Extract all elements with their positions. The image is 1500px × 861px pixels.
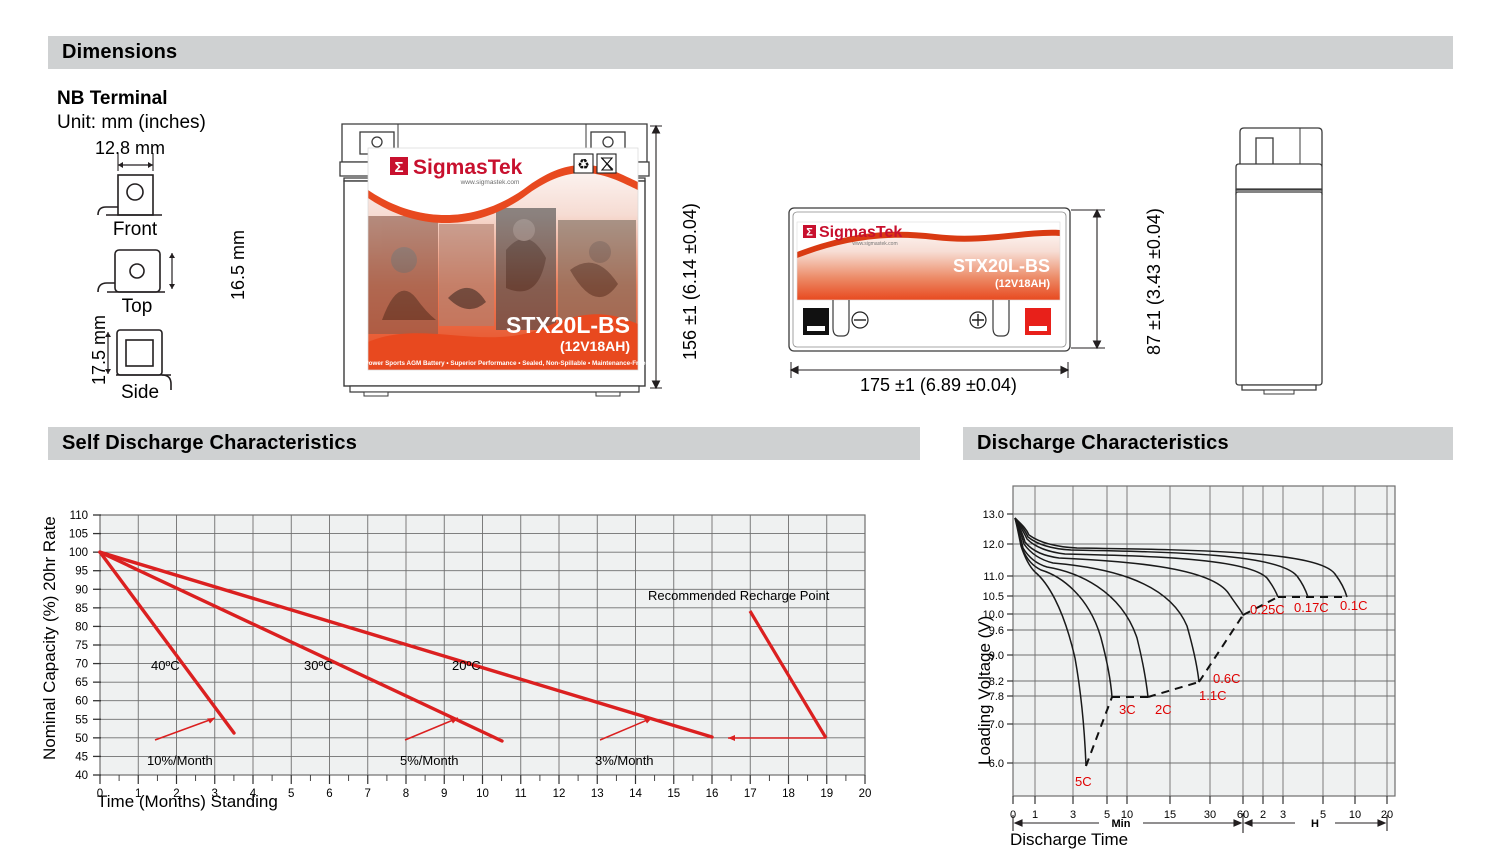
battery-model: STX20L-BS (506, 312, 630, 338)
recycle-icon: ♻ (574, 154, 593, 173)
brand-sigma-glyph: Σ (394, 159, 403, 176)
span-label-min: Min (1112, 818, 1131, 830)
label-1.1c: 1.1C (1199, 688, 1226, 703)
annotation-5pct-month: 5%/Month (400, 753, 459, 768)
battery-length-dimension: 175 ±1 (6.89 ±0.04) (860, 375, 1017, 396)
svg-text:95: 95 (75, 566, 88, 578)
battery-tagline: • Power Sports AGM Battery • Superior Pe… (360, 360, 646, 367)
label-3c: 3C (1119, 702, 1136, 717)
label-2c: 2C (1155, 702, 1172, 717)
annotation-30c: 30ºC (304, 658, 333, 673)
svg-text:10: 10 (476, 788, 489, 800)
label-0.17c: 0.17C (1294, 600, 1329, 615)
svg-text:85: 85 (75, 603, 88, 615)
svg-text:STX20L-BS: STX20L-BS (953, 256, 1050, 276)
svg-text:9: 9 (441, 788, 447, 800)
annotation-40c: 40ºC (151, 658, 180, 673)
discharge-chart: 13.012.011.0 10.510.09.6 9.08.27.8 7.06.… (995, 478, 1415, 828)
polarity-negative-icon (852, 312, 868, 328)
self-discharge-section-header: Self Discharge Characteristics (48, 427, 920, 460)
svg-text:6.0: 6.0 (989, 758, 1004, 770)
annotation-10pct-month: 10%/Month (147, 753, 213, 768)
svg-text:45: 45 (75, 751, 88, 763)
svg-text:105: 105 (69, 529, 88, 541)
svg-text:10.5: 10.5 (983, 591, 1004, 603)
svg-text:6: 6 (326, 788, 332, 800)
svg-text:7.8: 7.8 (989, 691, 1004, 703)
svg-text:15: 15 (667, 788, 680, 800)
battery-side-view: Σ SigmasTek www.sigmastek.com STX20L-BS … (785, 200, 1125, 400)
terminal-view-top-label: Top (122, 296, 153, 317)
svg-text:14: 14 (629, 788, 642, 800)
svg-text:11: 11 (515, 788, 527, 800)
svg-text:80: 80 (75, 621, 88, 633)
svg-text:18: 18 (782, 788, 795, 800)
svg-text:13: 13 (591, 788, 604, 800)
svg-text:65: 65 (75, 677, 88, 689)
brand-website: www.sigmastek.com (460, 179, 520, 186)
svg-text:110: 110 (70, 510, 88, 522)
svg-text:40: 40 (75, 770, 88, 782)
discharge-title: Discharge Characteristics (963, 432, 1229, 455)
discharge-time-span-bars: Min H (995, 812, 1415, 838)
svg-text:70: 70 (75, 659, 88, 671)
svg-text:90: 90 (75, 584, 88, 596)
battery-height-dimension: 156 ±1 (6.14 ±0.04) (680, 203, 701, 360)
label-0.6c: 0.6C (1213, 671, 1240, 686)
svg-text:1: 1 (135, 788, 141, 800)
unit-label: Unit: mm (inches) (57, 112, 206, 134)
terminal-width-label: 12.8 mm (95, 138, 165, 159)
discharge-section-header: Discharge Characteristics (963, 427, 1453, 460)
svg-text:75: 75 (75, 640, 88, 652)
svg-text:2: 2 (173, 788, 179, 800)
nb-terminal-title: NB Terminal (57, 88, 168, 110)
svg-text:55: 55 (75, 714, 88, 726)
svg-text:20: 20 (859, 788, 872, 800)
terminal-view-front-label: Front (113, 219, 158, 240)
dimensions-title: Dimensions (48, 41, 177, 64)
svg-text:60: 60 (75, 696, 88, 708)
label-0.1c: 0.1C (1340, 598, 1367, 613)
svg-text:7.0: 7.0 (989, 719, 1004, 731)
svg-text:12: 12 (553, 788, 566, 800)
svg-text:Σ: Σ (806, 227, 813, 239)
svg-text:10.0: 10.0 (983, 609, 1004, 621)
svg-text:9.6: 9.6 (989, 625, 1004, 637)
svg-text:12.0: 12.0 (983, 539, 1004, 551)
annotation-3pct-month: 3%/Month (595, 753, 654, 768)
label-0.25c: 0.25C (1250, 602, 1285, 617)
label-5c: 5C (1075, 774, 1092, 789)
svg-text:17: 17 (744, 788, 757, 800)
battery-side-height-dimension: 87 ±1 (3.43 ±0.04) (1144, 208, 1165, 355)
svg-text:11.0: 11.0 (983, 571, 1004, 583)
svg-text:8.2: 8.2 (989, 676, 1004, 688)
battery-end-view (1228, 122, 1343, 402)
svg-text:13.0: 13.0 (983, 509, 1004, 521)
svg-text:(12V18AH): (12V18AH) (995, 278, 1050, 290)
span-label-hour: H (1311, 818, 1319, 830)
annotation-recharge-point: Recommended Recharge Point (648, 588, 830, 603)
brand-name: SigmasTek (413, 156, 523, 179)
svg-text:♻: ♻ (577, 157, 590, 173)
svg-text:8: 8 (403, 788, 409, 800)
svg-text:16: 16 (706, 788, 719, 800)
dimensions-section-header: Dimensions (48, 36, 1453, 69)
svg-text:100: 100 (69, 547, 88, 559)
polarity-positive-icon (970, 312, 986, 328)
terminal-view-side-label: Side (121, 382, 159, 403)
svg-text:4: 4 (250, 788, 257, 800)
svg-text:www.sigmastek.com: www.sigmastek.com (852, 241, 897, 247)
self-discharge-title: Self Discharge Characteristics (48, 432, 357, 455)
annotation-20c: 20ºC (452, 658, 481, 673)
svg-text:19: 19 (820, 788, 833, 800)
battery-capacity: (12V18AH) (560, 338, 630, 354)
battery-front-view: Σ SigmasTek www.sigmastek.com ♻ STX20L-B… (338, 120, 698, 405)
svg-text:7: 7 (365, 788, 371, 800)
self-discharge-chart: 110105100 959085 807570 656055 504540 01… (55, 500, 875, 790)
svg-text:SigmasTek: SigmasTek (819, 224, 902, 241)
terminal-height-label: 16.5 mm (228, 230, 249, 300)
svg-text:0: 0 (97, 788, 103, 800)
no-bin-icon (597, 154, 616, 173)
svg-text:50: 50 (75, 733, 88, 745)
svg-text:5: 5 (288, 788, 294, 800)
terminal-depth-label: 17.5 mm (89, 315, 110, 385)
svg-text:9.0: 9.0 (989, 650, 1004, 662)
svg-text:3: 3 (212, 788, 218, 800)
